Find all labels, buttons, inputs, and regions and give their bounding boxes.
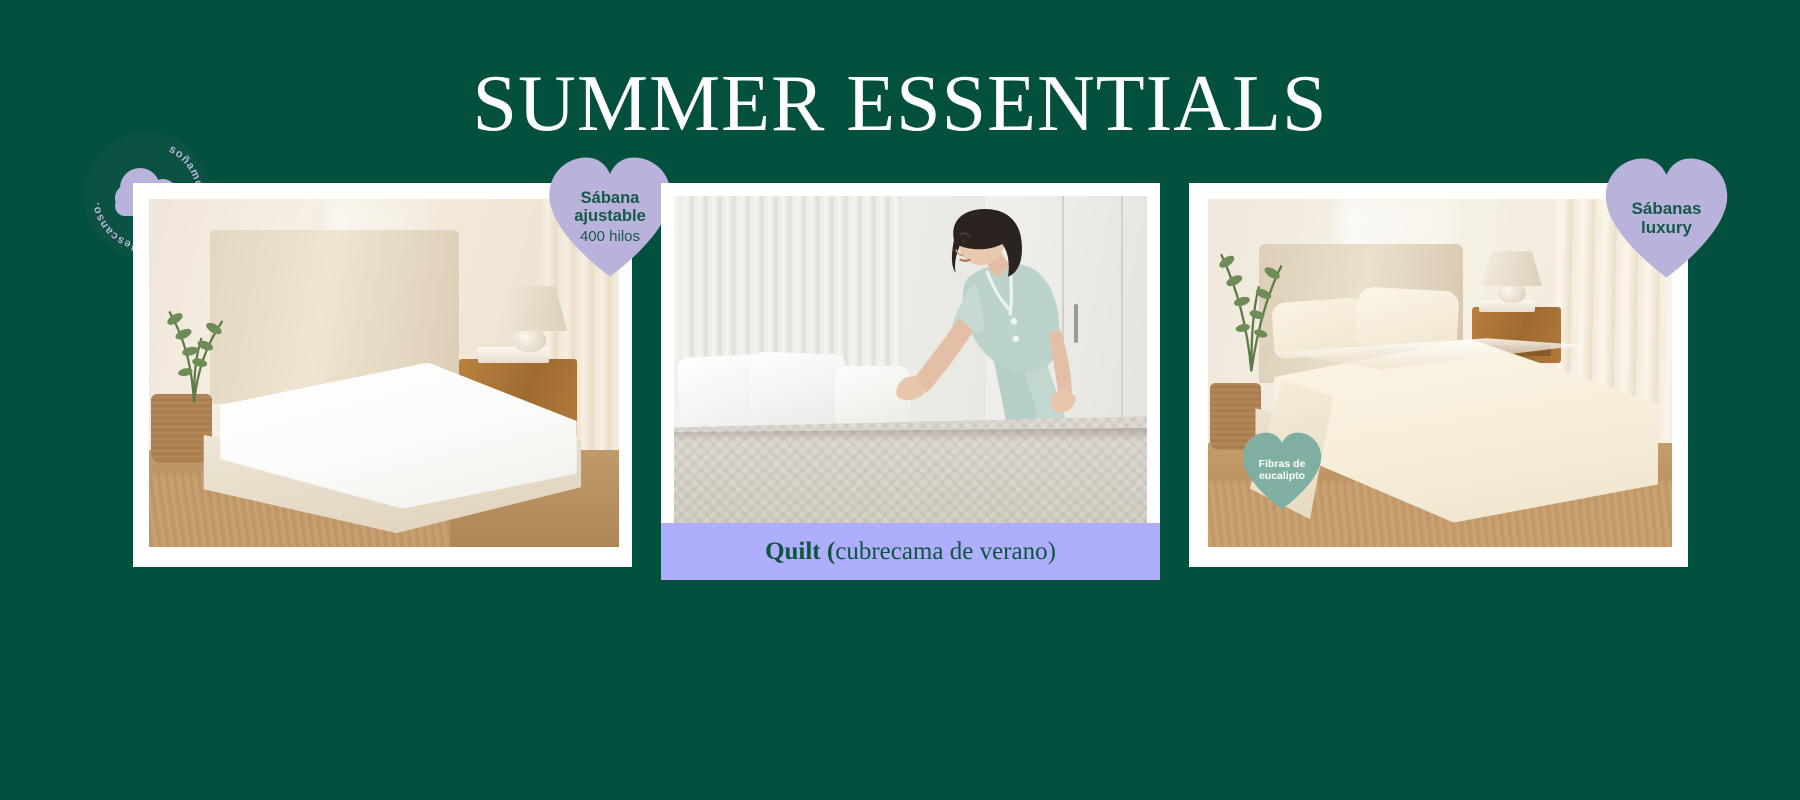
badge-line-2: eucalipto [1259, 471, 1306, 483]
badge-line-1: Sábana [574, 189, 646, 207]
plant-icon [154, 300, 234, 404]
product-photo-quilt [674, 196, 1147, 523]
badge-sabanas-luxury: Sábanas luxury [1601, 156, 1732, 280]
caption-quilt: Quilt (cubrecama de verano) [661, 523, 1160, 580]
caption-bold-text: Quilt ( [765, 538, 835, 566]
page-title: SUMMER ESSENTIALS [0, 62, 1800, 146]
badge-line-1: Sábanas [1632, 199, 1702, 218]
product-panel-row: Sábana ajustable 400 hilos [133, 183, 1689, 580]
panel-sabana-ajustable[interactable]: Sábana ajustable 400 hilos [133, 183, 632, 567]
badge-line-3: 400 hilos [574, 229, 646, 246]
badge-line-2: luxury [1632, 218, 1702, 237]
badge-line-2: ajustable [574, 207, 646, 225]
panel-sabanas-luxury[interactable]: Fibras de eucalipto Sábanas luxury [1189, 183, 1688, 567]
badge-fibras-eucalipto: Fibras de eucalipto [1240, 431, 1324, 511]
caption-regular-text: cubrecama de verano) [835, 538, 1056, 566]
photo-frame: Quilt (cubrecama de verano) [661, 183, 1160, 580]
person-making-bed-illustration [887, 209, 1090, 451]
badge-sabana-ajustable: Sábana ajustable 400 hilos [545, 155, 675, 279]
panel-quilt[interactable]: Quilt (cubrecama de verano) [661, 183, 1160, 580]
